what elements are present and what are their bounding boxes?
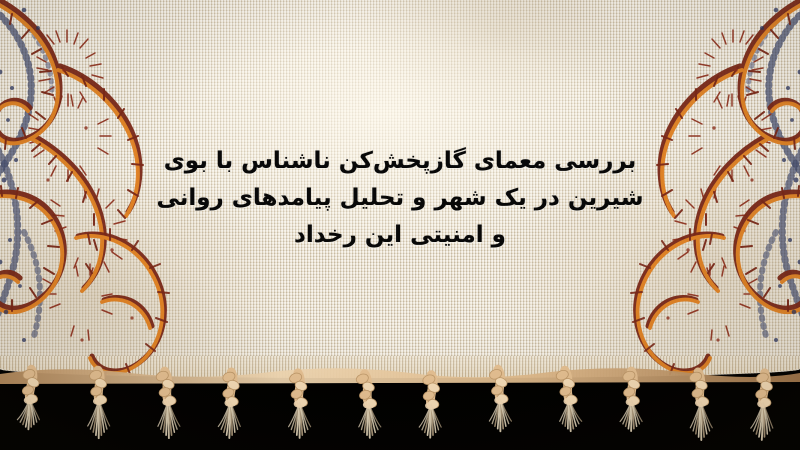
title-card-canvas: بررسی معمای گازپخش‌کن ناشناس با بوی شیری…: [0, 0, 800, 450]
title-line-3: و امنیتی این رخداد: [0, 217, 800, 254]
cloth-hem-edge: [0, 356, 800, 378]
title-line-2: شیرین در یک شهر و تحلیل پیامدهای روانی: [0, 180, 800, 217]
title-line-1: بررسی معمای گازپخش‌کن ناشناس با بوی: [0, 143, 800, 180]
title-text-block: بررسی معمای گازپخش‌کن ناشناس با بوی شیری…: [0, 143, 800, 254]
